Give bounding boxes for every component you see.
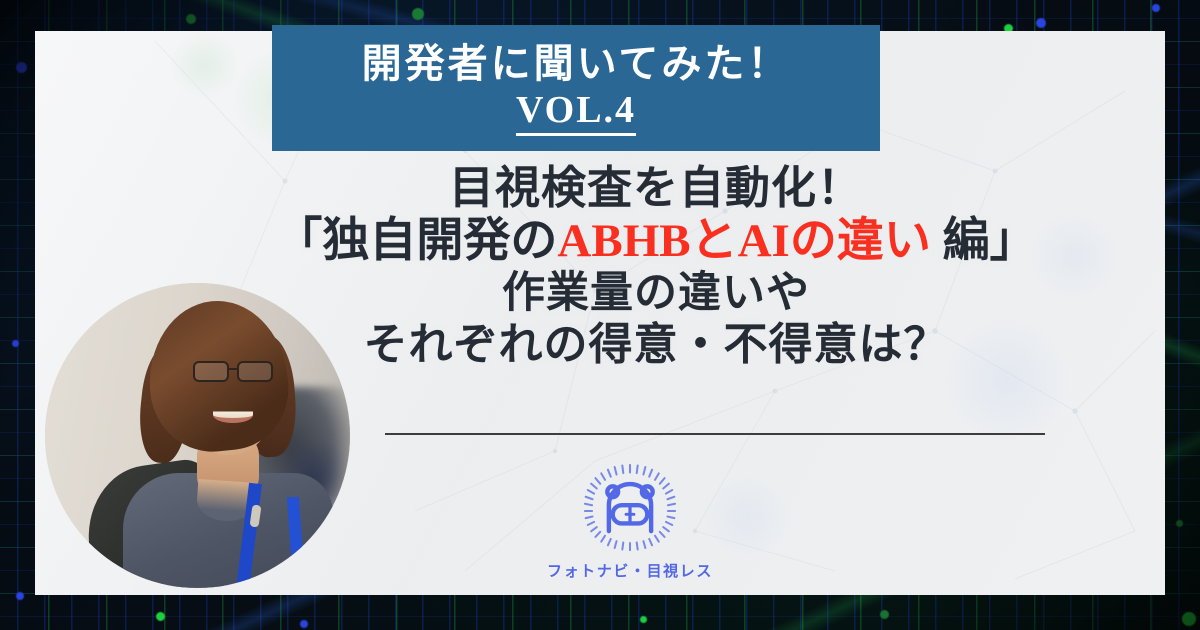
page-root: 開発者に聞いてみた！ VOL.4 目視検査を自動化！ 「独自開発のABHBとAI… [0,0,1200,630]
headline-block: 目視検査を自動化！ 「独自開発のABHBとAIの違い 編」 作業量の違いや それ… [240,162,1072,370]
banner-title: 開発者に聞いてみた！ [362,40,791,87]
portrait-glasses-bridge [229,368,239,370]
developer-portrait-photo [45,283,350,588]
headline-divider [385,433,1045,435]
headline-line-4: それぞれの得意・不得意は？ [240,319,1072,370]
brand-logo-text: フォトナビ・目視レス [547,560,713,581]
headline-line-3: 作業量の違いや [240,269,1072,319]
vol-banner: 開発者に聞いてみた！ VOL.4 [272,25,880,151]
portrait-glasses-lens-left [193,361,229,382]
headline-line-2: 「独自開発のABHBとAIの違い 編」 [240,214,1072,269]
brand-logo-block: フォトナビ・目視レス [530,462,730,581]
bear-mascot-icon [582,462,678,558]
portrait-glasses [193,361,279,383]
banner-volume: VOL.4 [516,89,636,137]
headline-accent-abhb-ai: ABHBとAIの違い [557,215,930,267]
headline-line-2-pre: 「独自開発の [275,215,557,267]
headline-line-1: 目視検査を自動化！ [240,162,1072,214]
portrait-smile [213,407,253,423]
portrait-glasses-lens-right [237,361,273,382]
headline-line-2-post: 編」 [931,215,1037,267]
